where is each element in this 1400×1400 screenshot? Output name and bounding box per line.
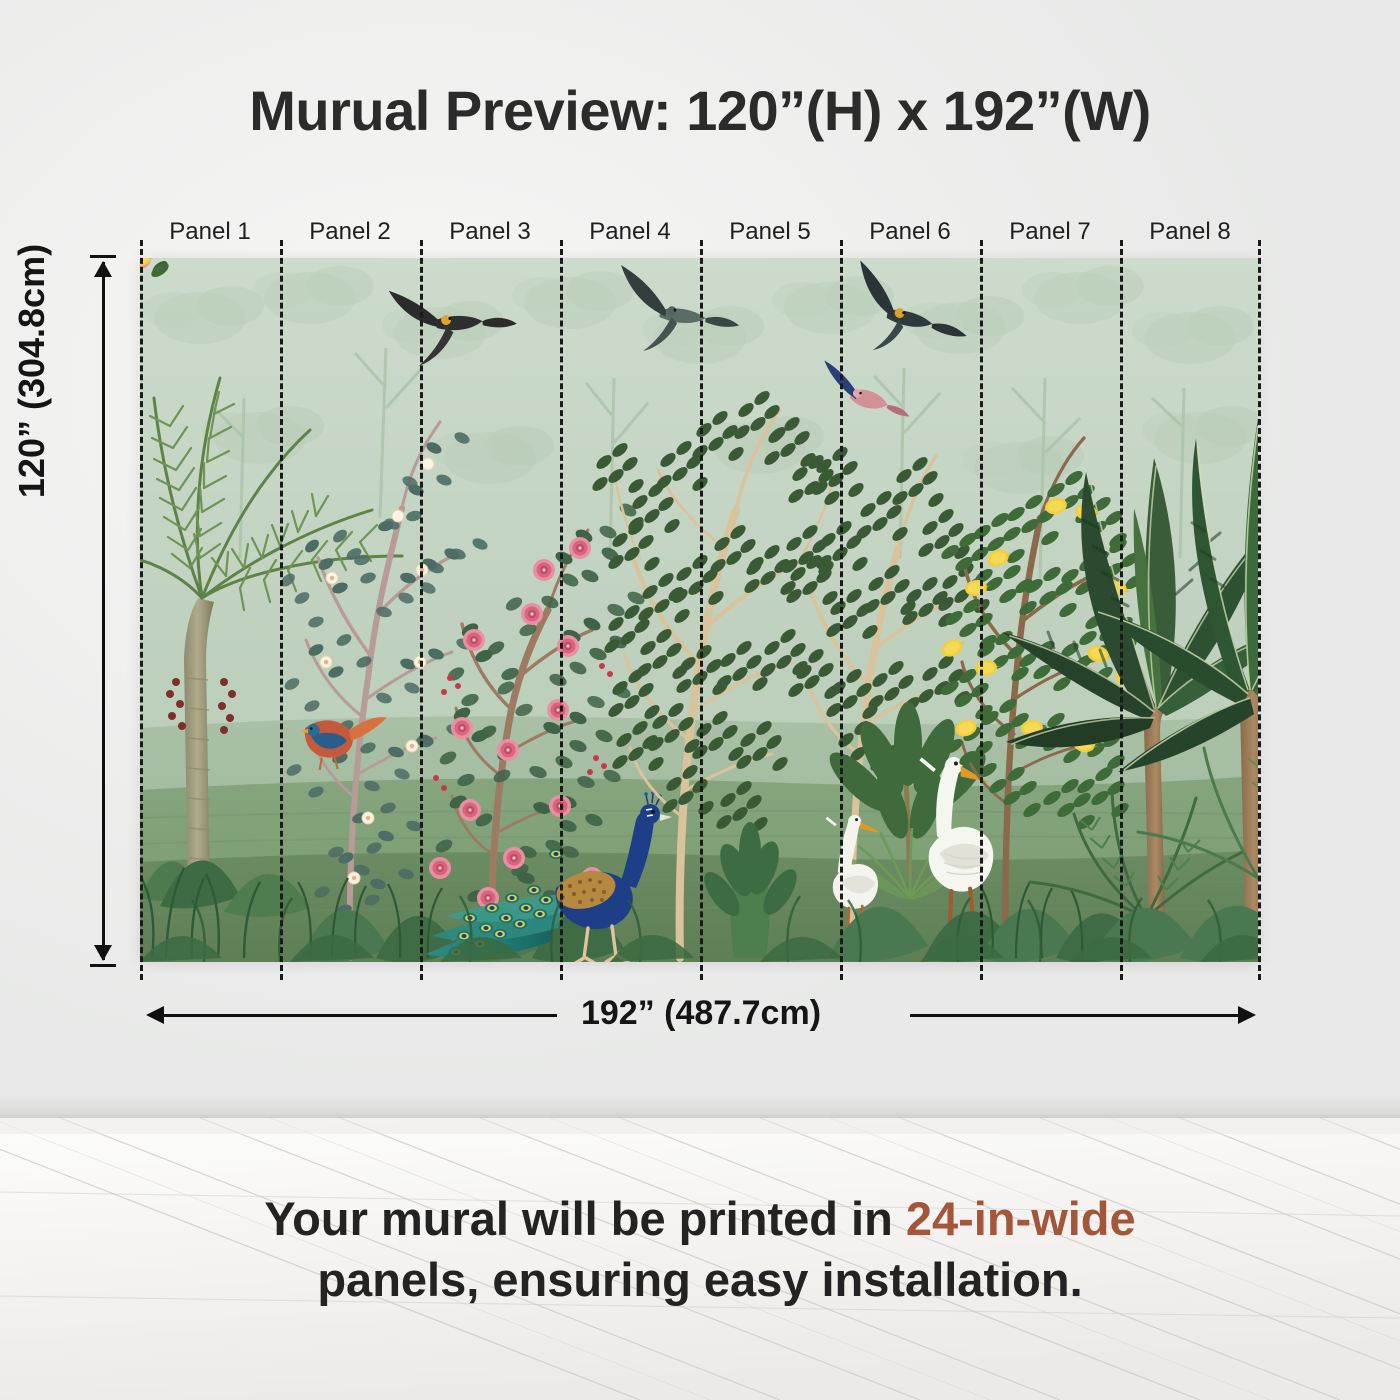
height-dimension-label: 120” (304.8cm) xyxy=(11,121,53,621)
caption-accent: 24-in-wide xyxy=(906,1192,1136,1245)
mural-preview-image[interactable] xyxy=(140,258,1258,962)
panel-label-6: Panel 6 xyxy=(840,215,980,249)
caption-prefix: Your mural will be printed in xyxy=(264,1192,906,1245)
width-line-right xyxy=(910,1014,1240,1017)
panel-label-3: Panel 3 xyxy=(420,215,560,249)
height-arrow-down xyxy=(94,945,112,961)
panel-label-2: Panel 2 xyxy=(280,215,420,249)
panel-label-1: Panel 1 xyxy=(140,215,280,249)
height-dimension-arrow xyxy=(78,255,138,967)
caption-line-2: panels, ensuring easy installation. xyxy=(0,1249,1400,1310)
height-cap-top xyxy=(90,255,116,258)
panel-label-5: Panel 5 xyxy=(700,215,840,249)
caption-line-1: Your mural will be printed in 24-in-wide xyxy=(0,1188,1400,1249)
panel-label-7: Panel 7 xyxy=(980,215,1120,249)
width-dimension-arrow: 192” (487.7cm) xyxy=(146,1000,1256,1032)
panel-label-4: Panel 4 xyxy=(560,215,700,249)
caption-text: Your mural will be printed in 24-in-wide… xyxy=(0,1188,1400,1310)
panel-label-8: Panel 8 xyxy=(1120,215,1260,249)
height-line xyxy=(102,262,105,960)
page-title: Murual Preview: 120”(H) x 192”(W) xyxy=(0,78,1400,143)
height-arrow-up xyxy=(94,261,112,277)
width-arrow-right xyxy=(1238,1006,1256,1024)
height-cap-bottom xyxy=(90,964,116,967)
panel-label-row: Panel 1 Panel 2 Panel 3 Panel 4 Panel 5 … xyxy=(140,215,1260,249)
